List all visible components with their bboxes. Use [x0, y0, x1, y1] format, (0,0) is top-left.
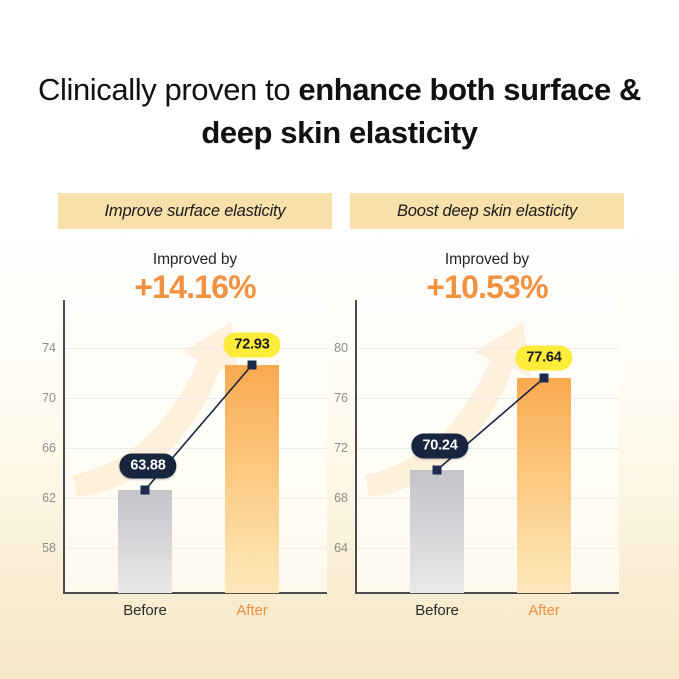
data-marker-before-left — [141, 486, 150, 495]
panel-band-label-left: Improve surface elasticity — [105, 202, 286, 221]
gridline-right-5 — [355, 548, 619, 549]
improved-callout-right: Improved by +10.53% — [350, 251, 624, 305]
value-badge-after-left: 72.93 — [223, 333, 280, 358]
panel-deep-skin-elasticity: Boost deep skin elasticity Improved by +… — [350, 193, 624, 633]
x-label-before-left: Before — [123, 602, 167, 619]
data-marker-after-right — [540, 374, 549, 383]
x-label-after-right: After — [528, 602, 559, 619]
gridline-left-5 — [63, 548, 327, 549]
panel-header-band-right: Boost deep skin elasticity — [350, 193, 624, 229]
gridline-left-4 — [63, 498, 327, 499]
x-axis-line-left — [63, 592, 327, 594]
panel-header-band-left: Improve surface elasticity — [58, 193, 332, 229]
value-badge-before-right: 70.24 — [411, 434, 468, 459]
value-badge-before-left: 63.88 — [119, 454, 176, 479]
y-tick-label-left-5: 58 — [16, 541, 56, 555]
gridline-left-1 — [63, 348, 327, 349]
y-tick-label-right-3: 72 — [308, 441, 348, 455]
y-tick-label-left-3: 66 — [16, 441, 56, 455]
gridline-right-2 — [355, 398, 619, 399]
value-badge-after-right: 77.64 — [515, 346, 572, 371]
gridline-right-4 — [355, 498, 619, 499]
y-tick-label-left-4: 62 — [16, 491, 56, 505]
improved-label-right: Improved by — [350, 251, 624, 269]
plot-background-right — [355, 300, 619, 593]
panel-band-label-right: Boost deep skin elasticity — [397, 202, 577, 221]
x-axis-labels-right: Before After — [355, 602, 619, 632]
y-tick-label-right-1: 80 — [308, 341, 348, 355]
x-label-before-right: Before — [415, 602, 459, 619]
y-tick-label-right-2: 76 — [308, 391, 348, 405]
data-marker-before-right — [433, 466, 442, 475]
improved-value-right: +10.53% — [350, 271, 624, 305]
improved-value-left: +14.16% — [58, 271, 332, 305]
plot-area-left: 74 70 66 62 58 63.88 72.93 — [63, 300, 327, 593]
x-axis-labels-left: Before After — [63, 602, 327, 632]
improved-callout-left: Improved by +14.16% — [58, 251, 332, 305]
bar-before-left — [118, 490, 172, 593]
infographic-page: Clinically proven to enhance both surfac… — [0, 0, 679, 679]
chart-surface-elasticity: 74 70 66 62 58 63.88 72.93 Before — [63, 300, 327, 633]
panel-surface-elasticity: Improve surface elasticity Improved by +… — [58, 193, 332, 633]
y-tick-label-right-5: 64 — [308, 541, 348, 555]
data-marker-after-left — [248, 361, 257, 370]
plot-area-right: 80 76 72 68 64 70.24 77.64 — [355, 300, 619, 593]
x-axis-line-right — [355, 592, 619, 594]
y-axis-line-left — [63, 300, 65, 593]
plot-background-left — [63, 300, 327, 593]
bar-before-right — [410, 470, 464, 593]
improved-label-left: Improved by — [58, 251, 332, 269]
y-tick-label-left-1: 74 — [16, 341, 56, 355]
gridline-left-3 — [63, 448, 327, 449]
page-title: Clinically proven to enhance both surfac… — [0, 69, 679, 155]
page-title-light: Clinically proven to — [38, 72, 298, 107]
x-label-after-left: After — [236, 602, 267, 619]
y-tick-label-right-4: 68 — [308, 491, 348, 505]
chart-deep-skin-elasticity: 80 76 72 68 64 70.24 77.64 Before After — [355, 300, 619, 633]
y-axis-line-right — [355, 300, 357, 593]
gridline-right-1 — [355, 348, 619, 349]
bar-after-right — [517, 378, 571, 593]
gridline-left-2 — [63, 398, 327, 399]
gridline-right-3 — [355, 448, 619, 449]
bar-after-left — [225, 365, 279, 593]
y-tick-label-left-2: 70 — [16, 391, 56, 405]
